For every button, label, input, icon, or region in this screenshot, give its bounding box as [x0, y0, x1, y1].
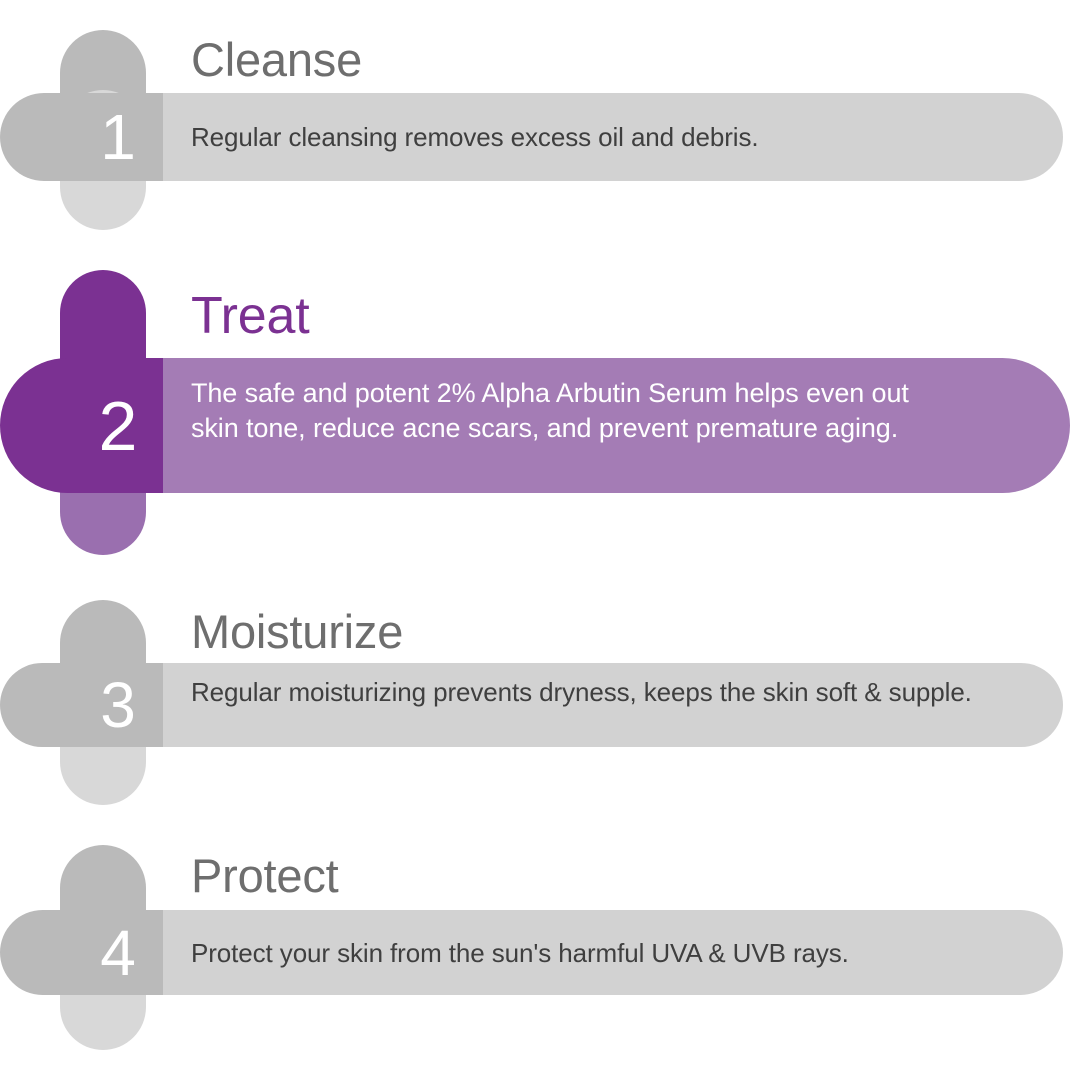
step-number-label: 3 [77, 673, 163, 737]
step-description: Protect your skin from the sun's harmful… [191, 936, 991, 970]
step-description: Regular moisturizing prevents dryness, k… [191, 675, 991, 709]
step-row-protect[interactable]: 4 Protect Protect your skin from the sun… [0, 820, 1080, 1080]
step-title: Moisturize [191, 608, 403, 655]
step-number-badge[interactable]: 3 [0, 663, 163, 747]
step-title: Protect [191, 852, 339, 899]
step-number-label: 2 [77, 391, 163, 461]
step-description: Regular cleansing removes excess oil and… [191, 120, 991, 154]
step-description: The safe and potent 2% Alpha Arbutin Ser… [191, 376, 921, 445]
step-number-badge[interactable]: 4 [0, 910, 163, 995]
step-row-moisturize[interactable]: 3 Moisturize Regular moisturizing preven… [0, 570, 1080, 845]
step-title: Treat [191, 290, 309, 342]
step-row-treat[interactable]: 2 Treat The safe and potent 2% Alpha Arb… [0, 250, 1080, 570]
step-row-cleanse[interactable]: 1 Cleanse Regular cleansing removes exce… [0, 0, 1080, 250]
step-number-badge[interactable]: 2 [0, 358, 163, 493]
step-number-label: 1 [77, 105, 163, 169]
step-title: Cleanse [191, 36, 362, 83]
skincare-routine-infographic: 1 Cleanse Regular cleansing removes exce… [0, 0, 1080, 1080]
step-number-badge[interactable]: 1 [0, 93, 163, 181]
step-number-label: 4 [77, 921, 163, 985]
